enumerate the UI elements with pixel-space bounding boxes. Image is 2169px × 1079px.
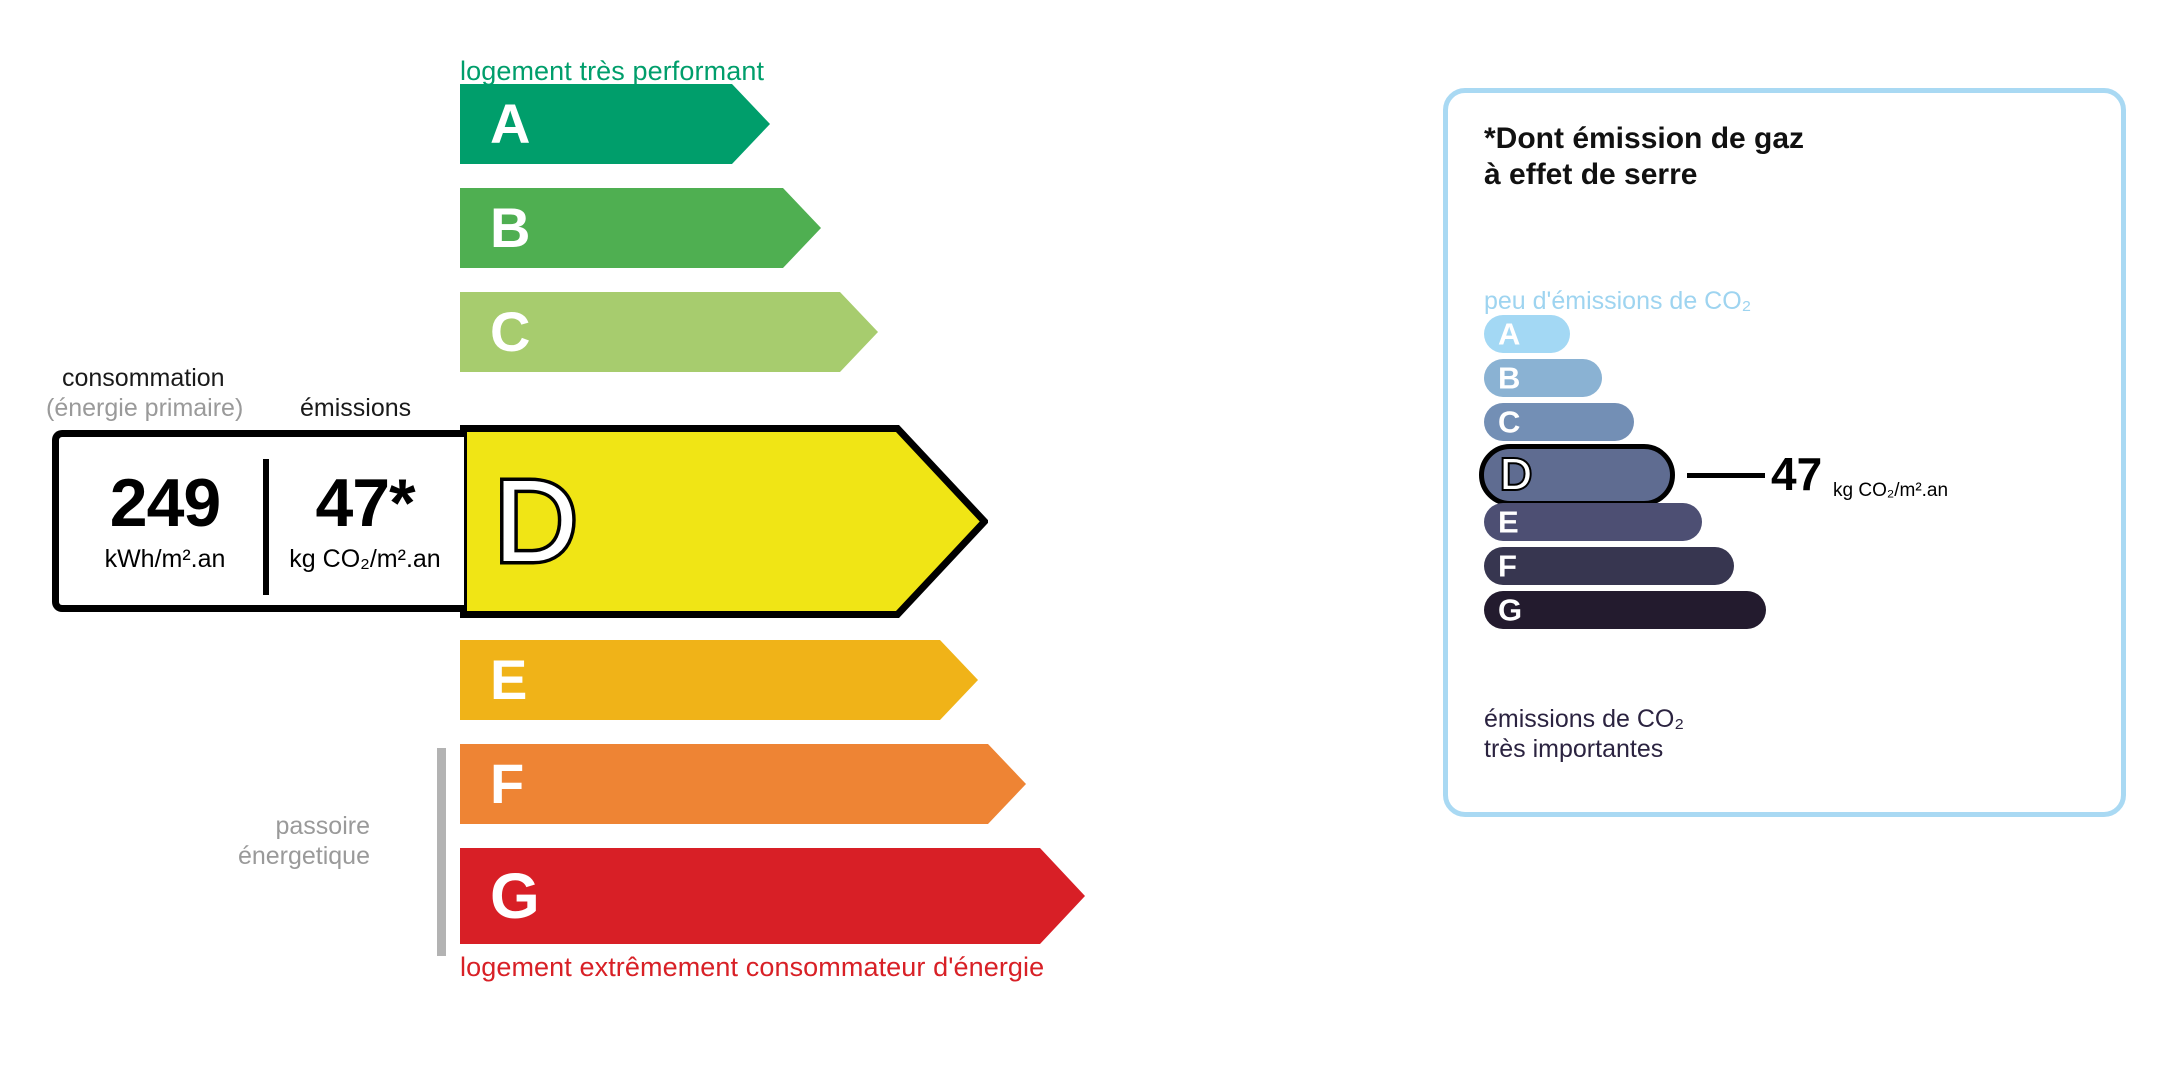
consumption-value: 249: [110, 469, 220, 537]
ges-leader-line: [1687, 473, 1765, 478]
energy-bar-letter-f: F: [490, 756, 524, 812]
value-divider: [263, 459, 269, 595]
ges-bar-letter-g: G: [1498, 595, 1522, 626]
ges-bar-a: A: [1484, 315, 1570, 353]
ges-bar-letter-f: F: [1498, 551, 1517, 582]
ges-value: 47: [1771, 451, 1822, 497]
ges-panel: *Dont émission de gaz à effet de serre p…: [1443, 88, 2126, 817]
energy-bar-letter-e: E: [490, 652, 527, 708]
energy-bar-b: B: [460, 188, 821, 268]
ges-bar-letter-e: E: [1498, 507, 1519, 538]
energy-bar-letter-d: D: [494, 463, 578, 579]
energy-bar-e: E: [460, 640, 978, 720]
energy-bar-letter-a: A: [490, 96, 530, 152]
ges-value-unit: kg CO₂/m².an: [1833, 481, 1948, 500]
ges-bar-letter-a: A: [1498, 319, 1520, 350]
emission-value: 47*: [315, 469, 414, 537]
ges-top-label: peu d'émissions de CO₂: [1484, 287, 1751, 316]
ges-bar-letter-d: D: [1500, 453, 1532, 497]
energy-bar-letter-c: C: [490, 304, 530, 360]
energy-bar-c: C: [460, 292, 878, 372]
energy-bar-d: D: [460, 425, 988, 618]
energy-bar-f: F: [460, 744, 1026, 824]
energy-top-caption: logement très performant: [460, 56, 764, 87]
energy-bar-a: A: [460, 84, 770, 164]
ges-bar-b: B: [1484, 359, 1602, 397]
ges-bar-c: C: [1484, 403, 1634, 441]
label-emissions: émissions: [300, 394, 411, 423]
consumption-value-cell: 249 kWh/m².an: [67, 437, 263, 605]
ges-panel-title: *Dont émission de gaz à effet de serre: [1484, 121, 1804, 193]
energy-bar-letter-g: G: [490, 864, 540, 928]
energy-bottom-caption: logement extrêmement consommateur d'éner…: [460, 952, 1044, 983]
emission-unit: kg CO₂/m².an: [289, 545, 440, 574]
ges-bar-f: F: [1484, 547, 1734, 585]
label-energie-primaire: (énergie primaire): [46, 394, 243, 423]
consumption-unit: kWh/m².an: [105, 545, 226, 574]
ges-bar-letter-b: B: [1498, 363, 1520, 394]
value-box: 249 kWh/m².an 47* kg CO₂/m².an: [52, 430, 464, 612]
ges-bottom-label: émissions de CO₂ très importantes: [1484, 705, 1684, 764]
ges-bar-g: G: [1484, 591, 1766, 629]
label-consommation: consommation: [62, 364, 225, 393]
energy-bar-g: G: [460, 848, 1085, 944]
energy-bar-letter-b: B: [490, 200, 530, 256]
dpe-diagram: logement très performant ABCDEFG consomm…: [0, 0, 2169, 1079]
emission-value-cell: 47* kg CO₂/m².an: [275, 437, 455, 605]
passoire-bracket: [437, 748, 446, 956]
passoire-energetique-label: passoire énergetique: [210, 812, 370, 871]
ges-bar-d: D: [1479, 444, 1675, 506]
ges-bar-e: E: [1484, 503, 1702, 541]
ges-bar-letter-c: C: [1498, 407, 1520, 438]
